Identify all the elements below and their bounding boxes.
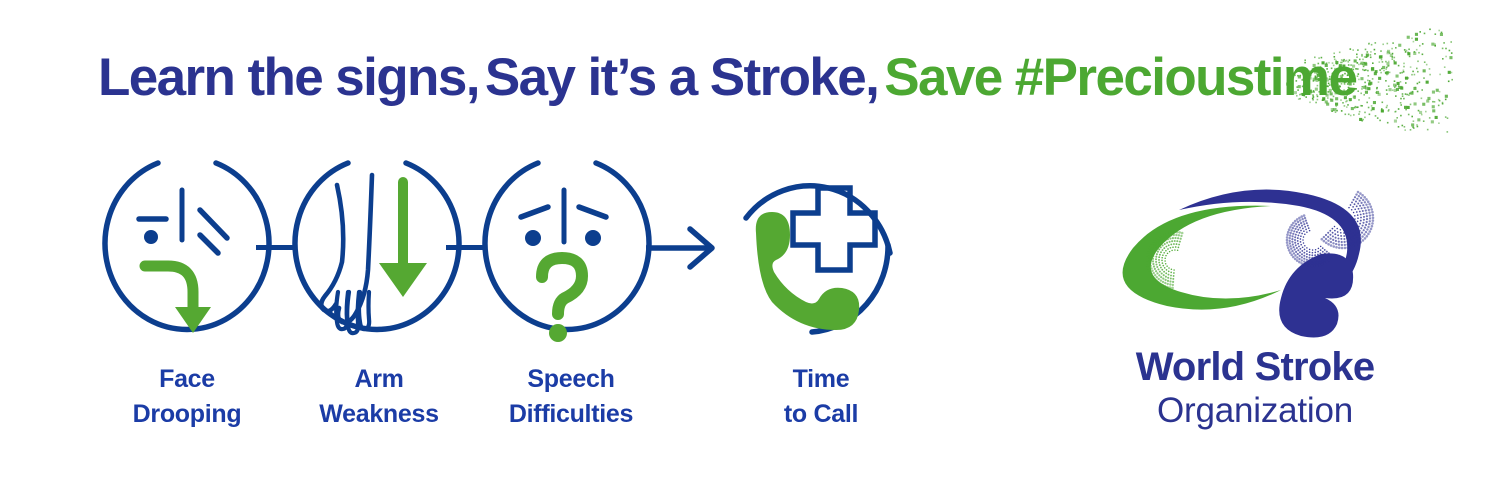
brain-swoosh-logo-icon (1075, 178, 1435, 338)
label-line-1: Speech (456, 362, 686, 397)
logo-name-line-2: Organization (1055, 390, 1455, 432)
right-eye (585, 230, 601, 246)
sign-icon-speech-difficulties[interactable] (470, 150, 660, 345)
headline-part-1: Learn the signs, (98, 48, 479, 107)
poster-canvas: Learn the signs,Say it’s a Stroke,Save #… (0, 0, 1500, 500)
left-eyebrow (521, 207, 548, 217)
label-line-1: Time (706, 362, 936, 397)
headline-part-3: Save #Precioustime (884, 48, 1356, 107)
sign-icon-time-to-call[interactable] (720, 150, 910, 345)
headline: Learn the signs,Say it’s a Stroke,Save #… (98, 42, 1438, 114)
headline-part-2: Say it’s a Stroke, (485, 48, 878, 107)
label-line-2: Difficulties (456, 397, 686, 432)
sign-icon-face-drooping[interactable] (90, 150, 280, 345)
circle-outline (485, 163, 649, 329)
circle-outline (105, 163, 269, 329)
logo-name-line-1: World Stroke (1055, 344, 1455, 390)
droop-stroke-2 (200, 235, 218, 253)
logo-wordmark: World Stroke Organization (1055, 344, 1455, 432)
droop-arrow-shaft (145, 266, 193, 314)
sign-label-speech-difficulties: Speech Difficulties (456, 362, 686, 432)
right-eyebrow (579, 207, 606, 217)
question-mark-curve (542, 258, 582, 314)
weakness-arrow-head (379, 263, 427, 297)
question-mark-dot (549, 324, 567, 342)
sign-icon-arm-weakness[interactable] (280, 150, 470, 345)
left-eye (144, 230, 158, 244)
droop-stroke-1 (200, 210, 227, 238)
label-line-2: to Call (706, 397, 936, 432)
left-eye (525, 230, 541, 246)
world-stroke-organization-logo[interactable]: World Stroke Organization (1055, 178, 1455, 428)
sign-label-time-to-call: Time to Call (706, 362, 936, 432)
medical-cross-icon (793, 188, 875, 270)
warning-signs-row (90, 150, 950, 350)
flow-arrow-icon (646, 222, 720, 274)
